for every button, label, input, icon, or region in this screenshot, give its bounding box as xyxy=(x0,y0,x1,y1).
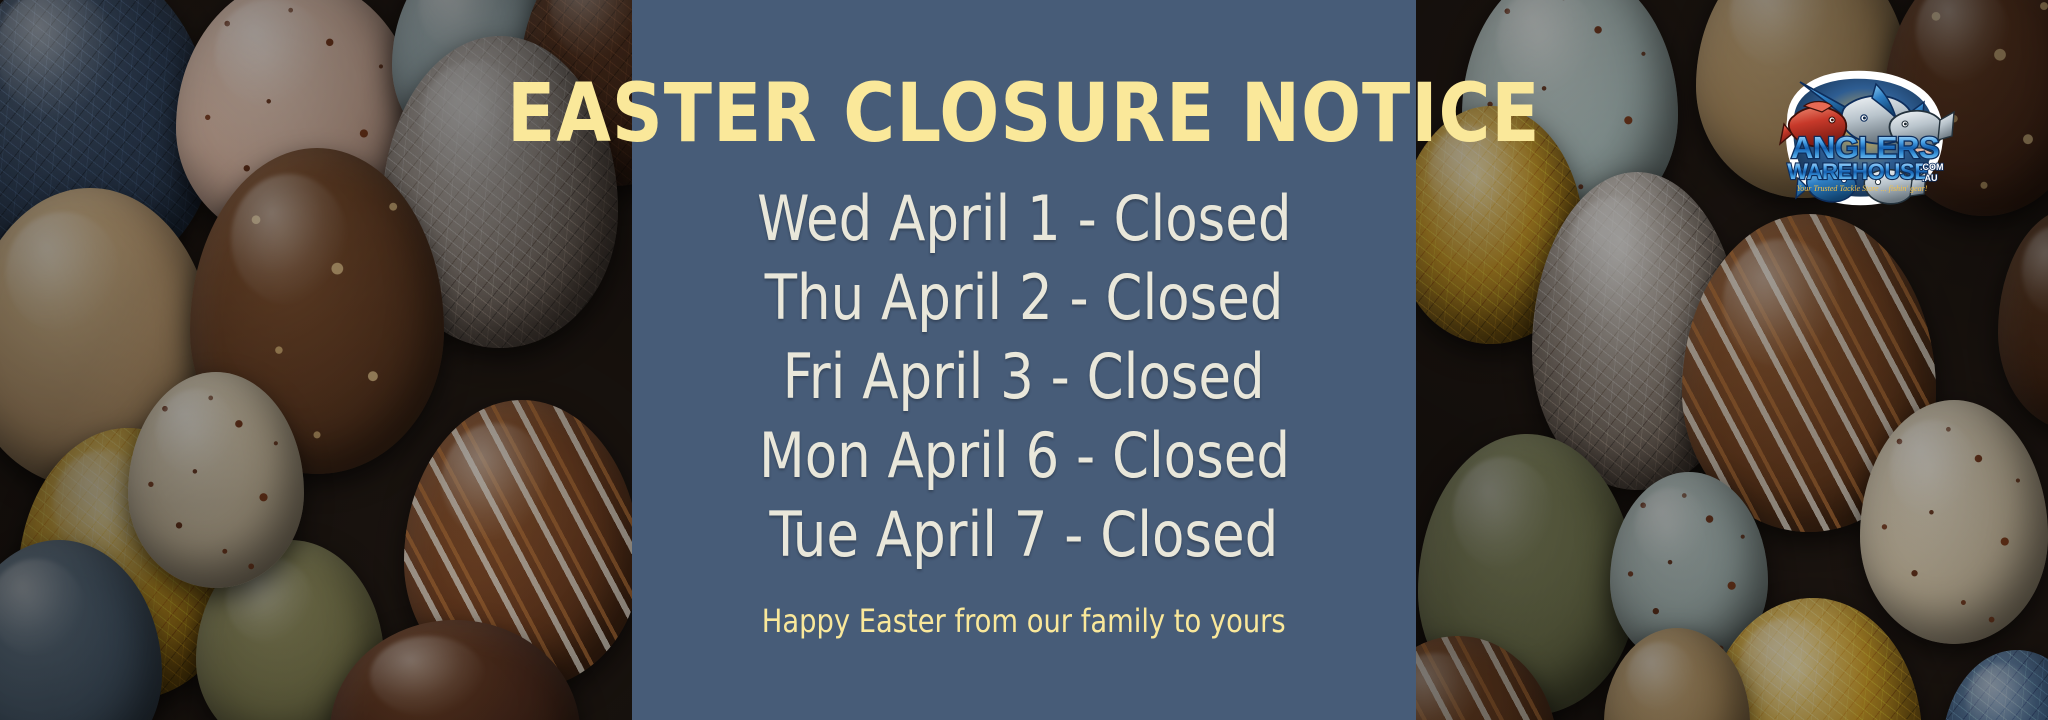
easter-closure-banner: EASTER CLOSURE NOTICE Wed April 1 - Clos… xyxy=(0,0,2048,720)
logo-domain-top: .COM xyxy=(1920,162,1944,172)
egg-cream-speckled-left xyxy=(128,372,304,588)
closure-row: Wed April 1 - Closed xyxy=(757,179,1291,258)
closure-dates-list: Wed April 1 - Closed Thu April 2 - Close… xyxy=(632,179,1416,574)
closure-row: Tue April 7 - Closed xyxy=(770,495,1279,574)
closure-row: Mon April 6 - Closed xyxy=(758,416,1289,495)
closure-row: Thu April 2 - Closed xyxy=(765,258,1284,337)
greeting-tagline: Happy Easter from our family to yours xyxy=(762,602,1286,640)
closure-row: Fri April 3 - Closed xyxy=(783,337,1265,416)
egg-dark-chocolate-edge-right xyxy=(1998,208,2048,430)
egg-blue-foil-bottom-right xyxy=(1942,650,2048,720)
logo-domain-bottom: .AU xyxy=(1922,173,1938,183)
page-title: EASTER CLOSURE NOTICE xyxy=(507,74,1541,155)
logo-line2: WAREHOUSE xyxy=(1787,159,1929,184)
egg-milk-chocolate-bottom-left-right xyxy=(1414,636,1558,720)
anglers-warehouse-logo[interactable]: ANGLERS WAREHOUSE .COM .AU Your Trusted … xyxy=(1772,62,1958,212)
notice-panel: EASTER CLOSURE NOTICE Wed April 1 - Clos… xyxy=(632,0,1416,720)
logo-script-tagline: Your Trusted Tackle Store ... fishin' ge… xyxy=(1797,184,1928,193)
